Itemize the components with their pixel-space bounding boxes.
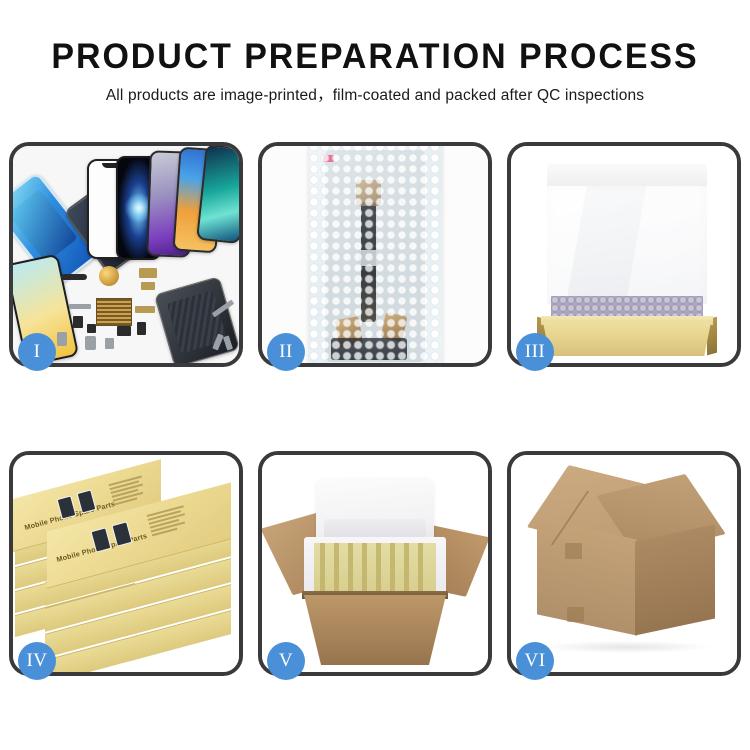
- step-badge-5: V: [267, 642, 305, 680]
- carton-tab: [567, 607, 584, 622]
- bubble-wrap-pouch: [309, 146, 442, 363]
- packed-boxes-row: [314, 543, 436, 591]
- carton-tab: [565, 543, 582, 559]
- flex-cable: [361, 202, 376, 322]
- step-badge-6: VI: [516, 642, 554, 680]
- spare-part: [137, 322, 146, 335]
- step-1-image: [13, 146, 239, 363]
- process-step-2: II: [258, 142, 492, 367]
- coil-part: [99, 266, 119, 286]
- step-5-image: [262, 455, 488, 672]
- step-badge-3: III: [516, 333, 554, 371]
- spare-part: [73, 316, 83, 328]
- carton-front-face: [537, 518, 637, 635]
- styrofoam-lid: [316, 477, 434, 543]
- header: PRODUCT PREPARATION PROCESS All products…: [0, 0, 750, 104]
- qc-sticker: [323, 155, 334, 162]
- carton-shadow: [541, 641, 711, 653]
- step-badge-4: IV: [18, 642, 56, 680]
- process-step-5: V: [258, 451, 492, 676]
- carton-body: [304, 595, 446, 665]
- process-step-grid: I II: [9, 142, 741, 676]
- step-3-image: [511, 146, 737, 363]
- connector-bar: [331, 338, 407, 360]
- process-step-4: Mobile Phone Spare Parts Mobile Phone Sp…: [9, 451, 243, 676]
- box-stack: Mobile Phone Spare Parts Mobile Phone Sp…: [13, 455, 239, 672]
- chip-grid-part: [96, 298, 132, 326]
- spare-part: [69, 304, 91, 309]
- spare-part: [87, 324, 96, 333]
- spare-part: [139, 268, 157, 278]
- spare-part: [57, 332, 67, 346]
- step-badge-2: II: [267, 333, 305, 371]
- page-subtitle: All products are image-printed，film-coat…: [0, 88, 750, 104]
- process-step-6: VI: [507, 451, 741, 676]
- spare-part: [85, 336, 96, 350]
- step-4-image: Mobile Phone Spare Parts Mobile Phone Sp…: [13, 455, 239, 672]
- spare-part: [105, 338, 114, 349]
- process-step-1: I: [9, 142, 243, 367]
- page-title: PRODUCT PREPARATION PROCESS: [11, 39, 739, 74]
- foam-sheet: [547, 186, 707, 304]
- process-step-3: III: [507, 142, 741, 367]
- box-front-face: [543, 322, 711, 356]
- product-preparation-infographic: PRODUCT PREPARATION PROCESS All products…: [0, 0, 750, 750]
- carton-side-face: [635, 524, 715, 635]
- spare-part: [141, 282, 155, 290]
- step-badge-1: I: [18, 333, 56, 371]
- step-2-image: [262, 146, 488, 363]
- spare-part: [61, 274, 87, 280]
- spare-part: [135, 306, 155, 313]
- stacked-box: [45, 635, 231, 659]
- spare-part: [117, 326, 131, 336]
- step-6-image: [511, 455, 737, 672]
